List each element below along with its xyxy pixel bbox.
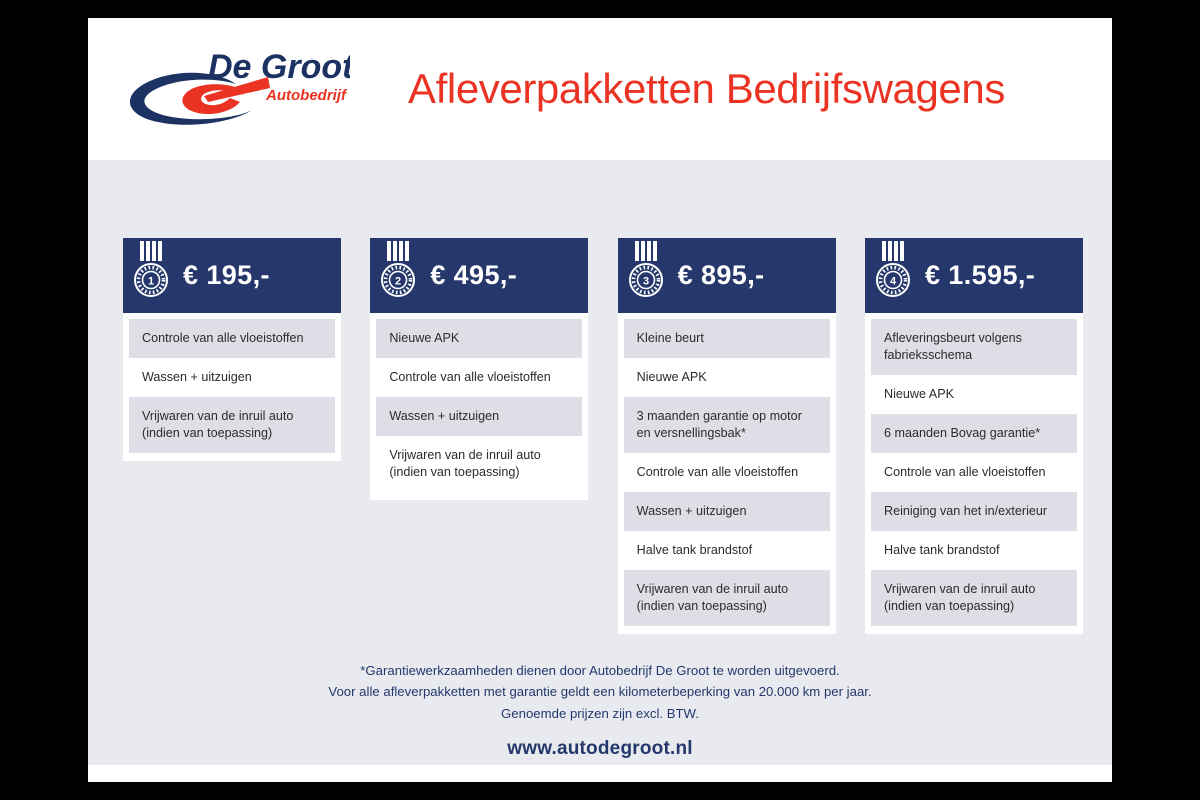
medal-rank: 2 xyxy=(395,275,401,287)
list-item: Controle van alle vloeistoffen xyxy=(129,319,335,358)
list-item: Controle van alle vloeistoffen xyxy=(871,453,1077,492)
package-price: € 195,- xyxy=(183,260,270,291)
package-items-4: Afleveringsbeurt volgens fabrieksschema … xyxy=(865,313,1083,634)
poster-frame: De Groot Autobedrijf Afleverpakketten Be… xyxy=(88,18,1112,782)
footer-note-1: *Garantiewerkzaamheden dienen door Autob… xyxy=(88,660,1112,681)
package-price: € 895,- xyxy=(678,260,765,291)
poster-body: 1 € 195,- Controle van alle vloeistoffen… xyxy=(88,160,1112,765)
medal-rank: 1 xyxy=(148,275,154,287)
page-title: Afleverpakketten Bedrijfswagens xyxy=(408,65,1005,113)
list-item: Controle van alle vloeistoffen xyxy=(376,358,582,397)
list-item: Halve tank brandstof xyxy=(624,531,830,570)
package-header-2: 2 € 495,- xyxy=(370,238,588,313)
footer-note-3: Genoemde prijzen zijn excl. BTW. xyxy=(88,703,1112,724)
package-cards: 1 € 195,- Controle van alle vloeistoffen… xyxy=(123,238,1083,634)
package-card-1[interactable]: 1 € 195,- Controle van alle vloeistoffen… xyxy=(123,238,341,461)
package-card-4[interactable]: 4 € 1.595,- Afleveringsbeurt volgens fab… xyxy=(865,238,1083,634)
list-item: Reiniging van het in/exterieur xyxy=(871,492,1077,531)
footer-notes: *Garantiewerkzaamheden dienen door Autob… xyxy=(88,660,1112,724)
package-items-2: Nieuwe APK Controle van alle vloeistoffe… xyxy=(370,313,588,500)
package-card-2[interactable]: 2 € 495,- Nieuwe APK Controle van alle v… xyxy=(370,238,588,500)
list-item: Nieuwe APK xyxy=(624,358,830,397)
package-price: € 495,- xyxy=(430,260,517,291)
medal-icon: 3 xyxy=(626,241,666,307)
poster-header: De Groot Autobedrijf Afleverpakketten Be… xyxy=(88,18,1112,160)
list-item: Vrijwaren van de inruil auto (indien van… xyxy=(624,570,830,626)
package-card-3[interactable]: 3 € 895,- Kleine beurt Nieuwe APK 3 maan… xyxy=(618,238,836,634)
package-items-1: Controle van alle vloeistoffen Wassen + … xyxy=(123,313,341,461)
list-item: 3 maanden garantie op motor en versnelli… xyxy=(624,397,830,453)
list-item: Vrijwaren van de inruil auto (indien van… xyxy=(129,397,335,453)
list-item: Wassen + uitzuigen xyxy=(376,397,582,436)
list-item: Wassen + uitzuigen xyxy=(624,492,830,531)
de-groot-logo: De Groot Autobedrijf xyxy=(118,44,350,134)
package-header-1: 1 € 195,- xyxy=(123,238,341,313)
list-item: Vrijwaren van de inruil auto (indien van… xyxy=(376,436,582,492)
list-item: Wassen + uitzuigen xyxy=(129,358,335,397)
list-item: Kleine beurt xyxy=(624,319,830,358)
package-price: € 1.595,- xyxy=(925,260,1035,291)
list-item: Halve tank brandstof xyxy=(871,531,1077,570)
list-item: Afleveringsbeurt volgens fabrieksschema xyxy=(871,319,1077,375)
logo-tagline: Autobedrijf xyxy=(265,87,348,104)
footer-note-2: Voor alle afleverpakketten met garantie … xyxy=(88,681,1112,702)
package-header-3: 3 € 895,- xyxy=(618,238,836,313)
list-item: Vrijwaren van de inruil auto (indien van… xyxy=(871,570,1077,626)
medal-rank: 3 xyxy=(643,275,649,287)
list-item: Controle van alle vloeistoffen xyxy=(624,453,830,492)
list-item: 6 maanden Bovag garantie* xyxy=(871,414,1077,453)
package-items-3: Kleine beurt Nieuwe APK 3 maanden garant… xyxy=(618,313,836,634)
list-item: Nieuwe APK xyxy=(376,319,582,358)
website-link[interactable]: www.autodegroot.nl xyxy=(88,738,1112,760)
list-item: Nieuwe APK xyxy=(871,375,1077,414)
medal-icon: 1 xyxy=(131,241,171,307)
logo-wordmark: De Groot xyxy=(208,48,350,86)
medal-rank: 4 xyxy=(890,275,897,287)
package-header-4: 4 € 1.595,- xyxy=(865,238,1083,313)
medal-icon: 2 xyxy=(378,241,418,307)
medal-icon: 4 xyxy=(873,241,913,307)
